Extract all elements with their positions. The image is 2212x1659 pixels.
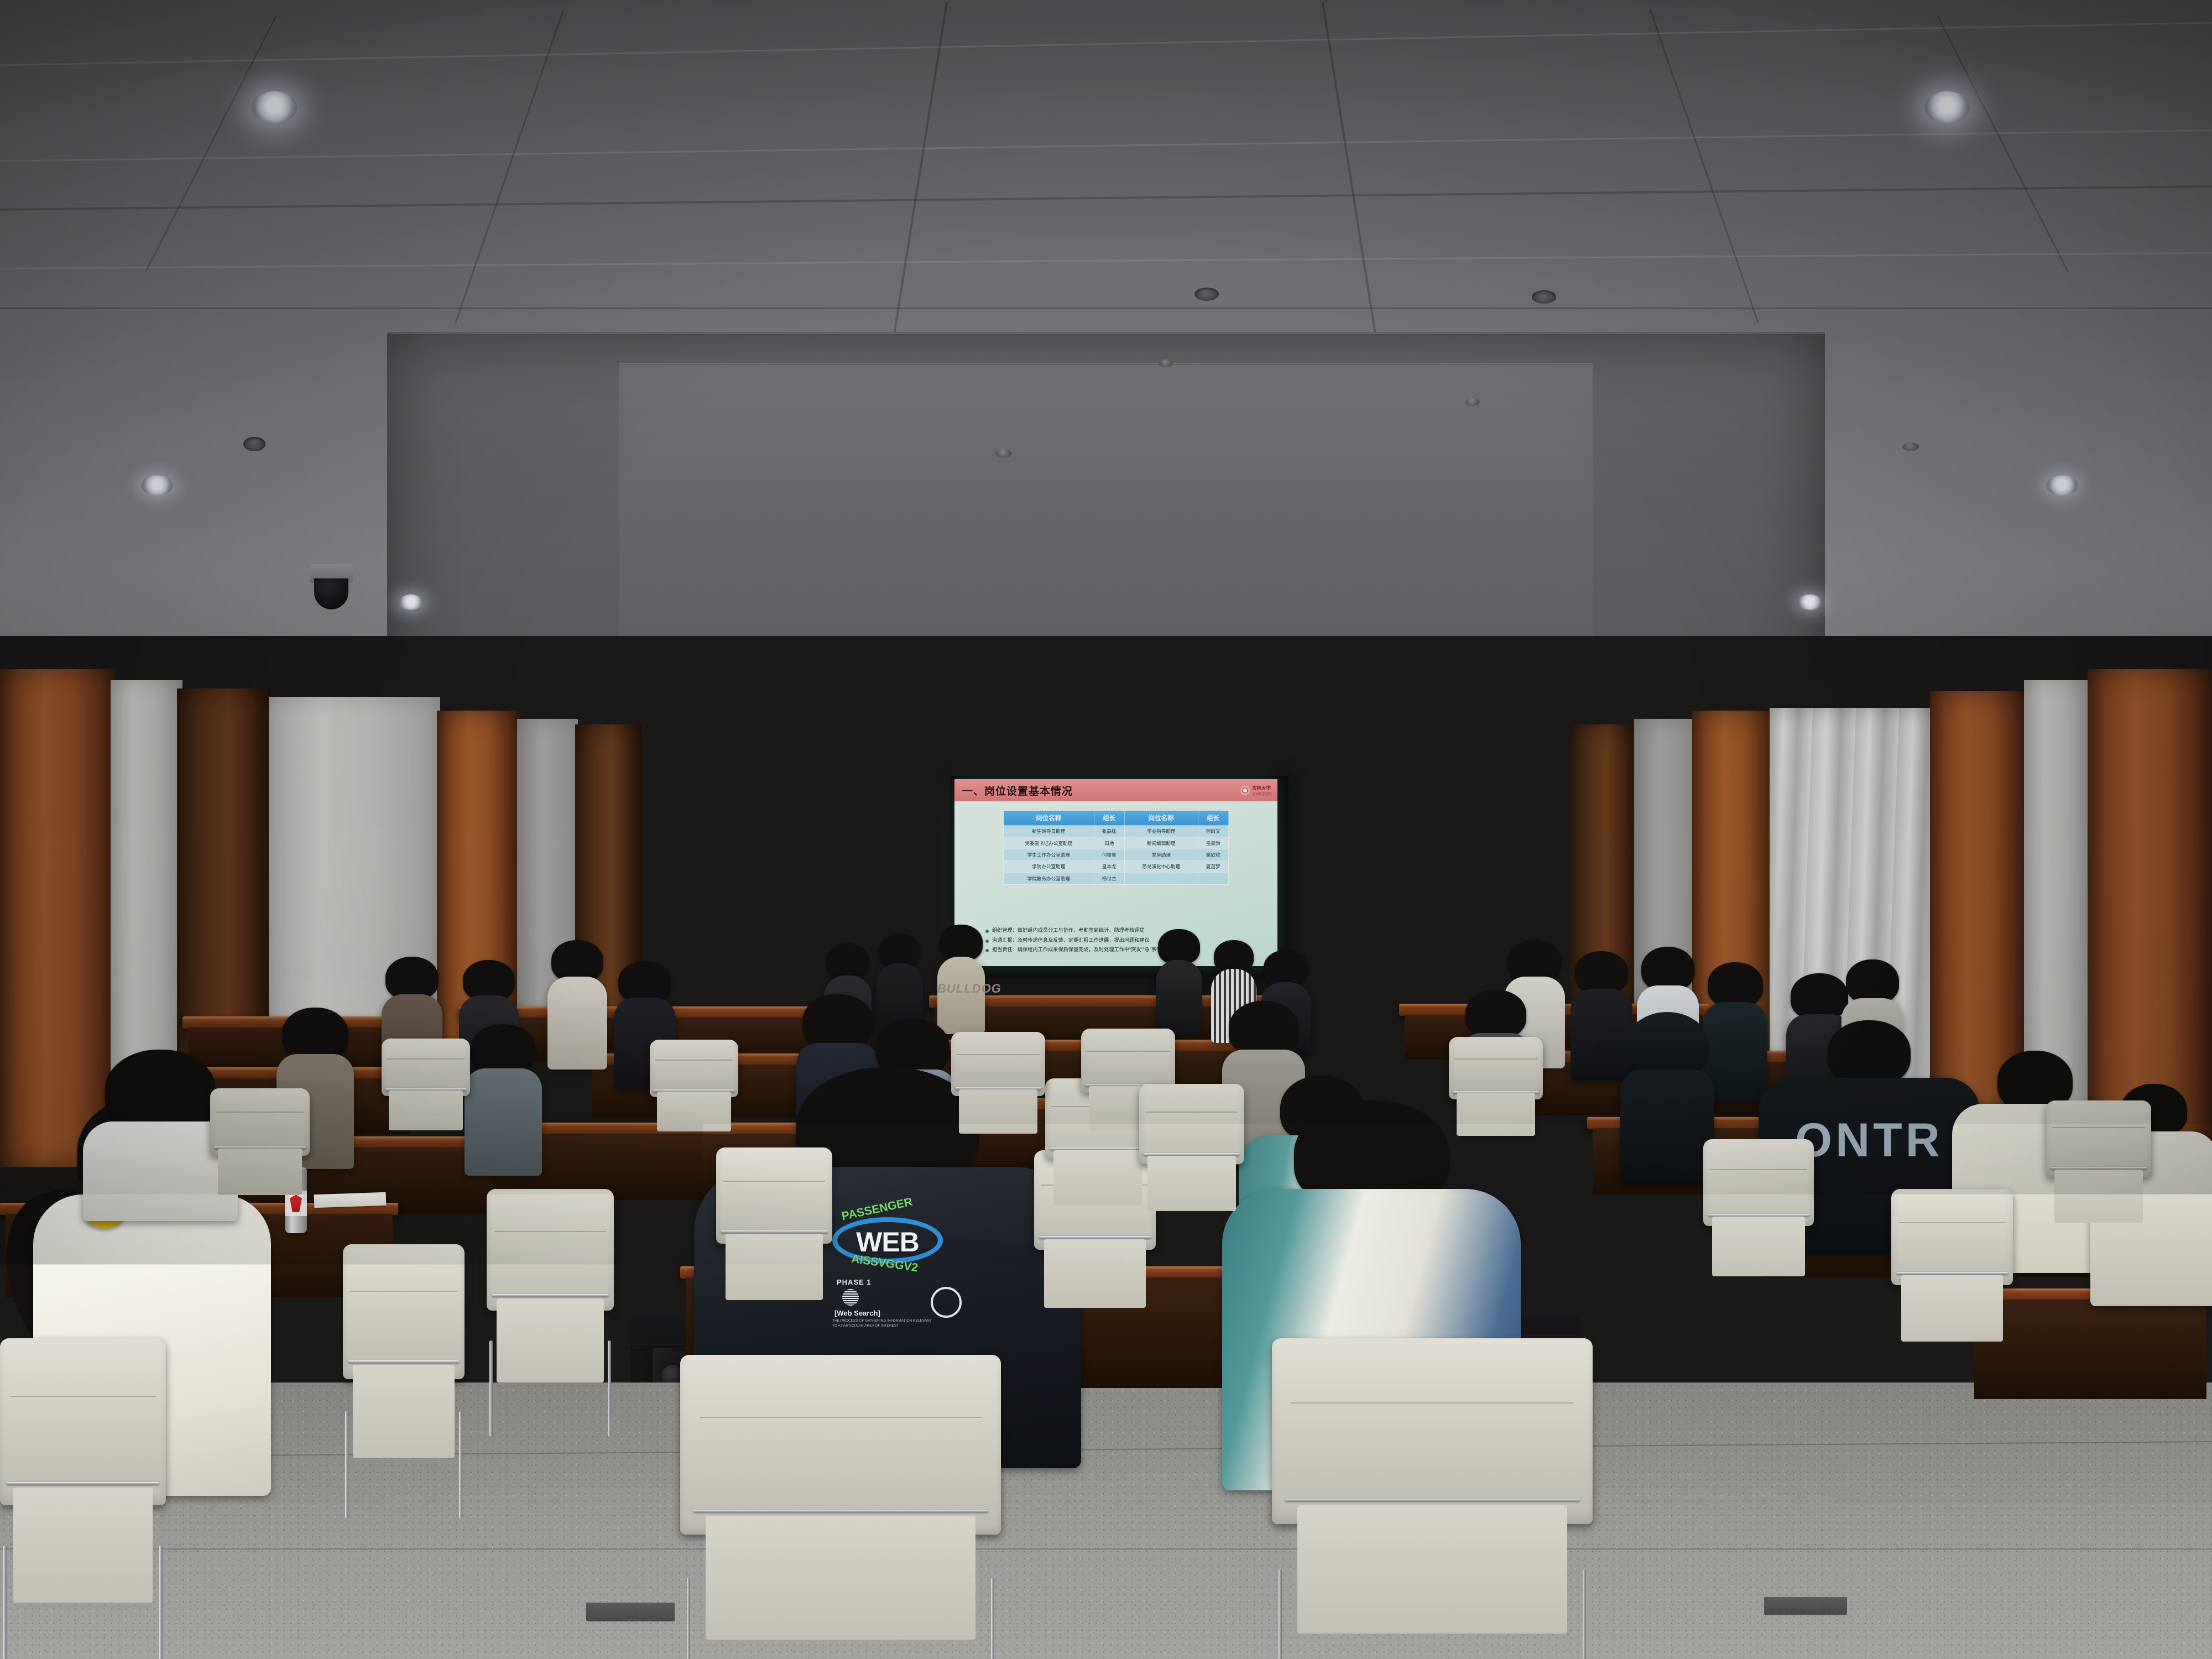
jacket-word: WEB [832, 1226, 943, 1258]
paper-sheet[interactable] [314, 1192, 387, 1208]
col-leader-2: 组长 [1198, 811, 1228, 826]
table-row: 党委副书记办公室助理田艳新闻编辑助理岳豪勃 [1004, 837, 1229, 849]
chair[interactable] [650, 1040, 738, 1139]
university-logo: 吉林大学 地球科学学院 [1240, 785, 1277, 796]
chair[interactable] [1548, 1084, 1653, 1217]
smoke-detector [1159, 359, 1173, 367]
ceiling-downlight [2046, 476, 2078, 495]
chair[interactable] [343, 1244, 465, 1477]
bullet-dot-icon [985, 930, 989, 933]
chair[interactable] [2046, 1100, 2151, 1233]
chair[interactable] [1703, 1139, 1814, 1288]
lecture-hall-scene: 一、岗位设置基本情况 吉林大学 地球科学学院 岗位名称 组长 岗位名称 组长 新… [0, 0, 2212, 1659]
university-seal-icon [1240, 786, 1250, 795]
list-item: 组织管理：做好组内成员分工与协作、考勤签到统计、助理考核评优 [985, 927, 1262, 933]
table-row: 学院教务办公室助理杨世杰 [1004, 873, 1229, 884]
smoke-detector [1465, 398, 1480, 406]
chair[interactable] [680, 1355, 1001, 1659]
ceiling-air-vent [1532, 290, 1556, 304]
chair[interactable] [951, 1032, 1045, 1142]
table-row: 学生工作办公室助理何睿昊党务助理姚欣欣 [1004, 849, 1229, 860]
chair[interactable] [382, 1039, 470, 1138]
jacket-fine-print: THE PROCESS OF GATHERING INFORMATION REL… [832, 1319, 937, 1329]
college-name: 地球科学学院 [1252, 791, 1272, 796]
ceiling-downlight [398, 594, 424, 610]
chair[interactable] [716, 1147, 832, 1313]
smoke-detector [1902, 442, 1919, 451]
audience-person [465, 1024, 542, 1173]
ceiling-downlight [1924, 91, 1970, 123]
chair[interactable] [1449, 1037, 1543, 1145]
globe-icon [842, 1289, 859, 1306]
ceiling-downlight [1797, 594, 1823, 610]
jacket-phase-label: PHASE 1 [837, 1278, 872, 1286]
slide-header-bar: 一、岗位设置基本情况 吉林大学 地球科学学院 [954, 779, 1277, 801]
ceiling-downlight [252, 91, 297, 123]
table-row: 新生辅导员助理张高栋学业指导助理柯啟文 [1004, 826, 1229, 837]
hoodie-graphic-text: BULLDOG [937, 982, 985, 996]
dome-security-camera [310, 564, 353, 612]
bullet-dot-icon [985, 949, 989, 952]
chair[interactable] [210, 1088, 310, 1204]
audience-person [1156, 929, 1202, 1031]
university-name: 吉林大学 [1252, 785, 1272, 791]
presentation-slide: 一、岗位设置基本情况 吉林大学 地球科学学院 岗位名称 组长 岗位名称 组长 新… [954, 779, 1277, 966]
table-header-row: 岗位名称 组长 岗位名称 组长 [1004, 811, 1229, 826]
smoke-detector [995, 449, 1012, 458]
ceiling-downlight [141, 476, 173, 495]
audience-person [547, 940, 607, 1067]
audience-person [877, 933, 923, 1033]
jacket-stamp-badge [931, 1287, 962, 1318]
slide-section-title: 一、岗位设置基本情况 [954, 783, 1073, 798]
col-position-name-2: 岗位名称 [1124, 811, 1198, 826]
floor-mat [1764, 1597, 1847, 1615]
chair[interactable] [487, 1189, 614, 1399]
col-leader-1: 组长 [1094, 811, 1124, 826]
ceiling-air-vent [1194, 288, 1219, 301]
chair[interactable] [0, 1338, 166, 1626]
jacket-search-tag: [Web Search] [834, 1309, 880, 1317]
floor-mat [586, 1603, 675, 1621]
ceiling-air-vent [243, 437, 265, 451]
col-position-name-1: 岗位名称 [1004, 811, 1094, 826]
chair[interactable] [1272, 1338, 1593, 1659]
ceiling [0, 0, 2212, 713]
table-row: 学院办公室助理皇本龙恐龙演化中心助理夏茁梦 [1004, 861, 1229, 873]
audience-person: BULLDOG [937, 925, 985, 1030]
web-jacket-graphic: PASSENGER WEB AISSVGGV2 PHASE 1 [Web Sea… [832, 1203, 943, 1275]
chair[interactable] [1139, 1084, 1244, 1222]
chair[interactable] [1891, 1189, 2013, 1355]
bullet-dot-icon [985, 940, 989, 943]
floor [0, 1383, 2212, 1659]
slide-position-table: 岗位名称 组长 岗位名称 组长 新生辅导员助理张高栋学业指导助理柯啟文 党委副书… [1003, 810, 1229, 885]
